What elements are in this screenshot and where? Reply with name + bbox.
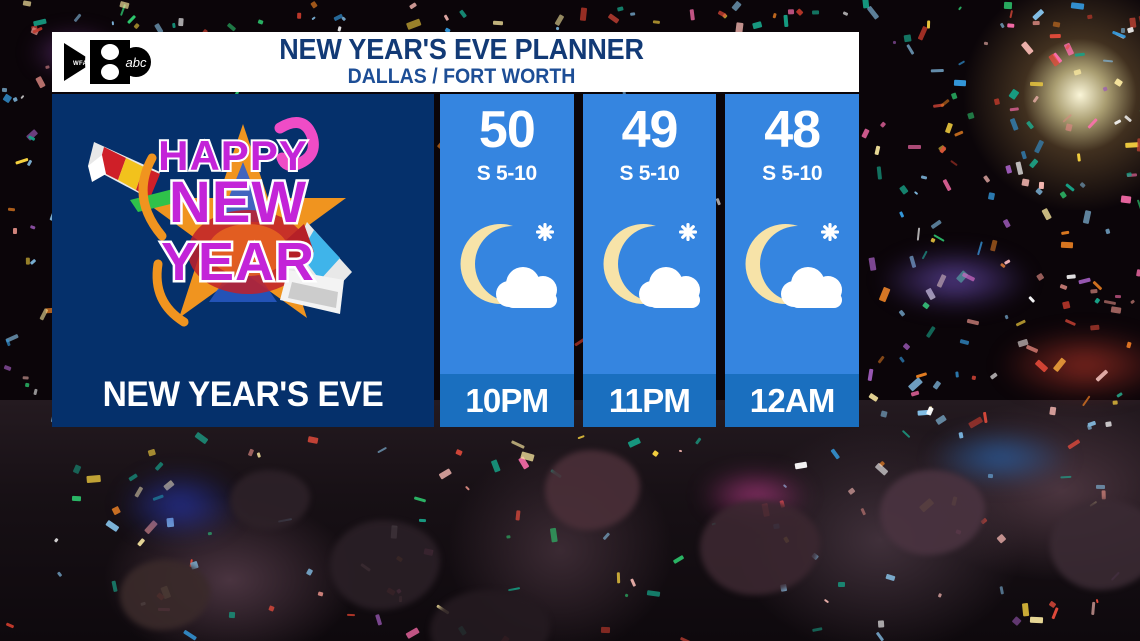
time-label: 10PM (465, 382, 548, 420)
station-logo: WFAA abc (52, 32, 164, 92)
temperature-value: 48 (764, 104, 820, 156)
promo-caption: NEW YEAR'S EVE (60, 375, 427, 415)
wfaa-abc-logo-icon: WFAA abc (60, 37, 160, 87)
time-label: 11PM (609, 382, 690, 420)
time-label: 12AM (750, 382, 835, 420)
page-title: NEW YEAR'S EVE PLANNER (185, 36, 738, 66)
page-subtitle: DALLAS / FORT WORTH (185, 66, 738, 88)
wind-value: S 5-10 (619, 162, 679, 186)
moon-cloud-star-icon (732, 208, 852, 318)
header-title-block: NEW YEAR'S EVE PLANNER DALLAS / FORT WOR… (164, 36, 859, 89)
artwork-line-new: NEW (169, 170, 307, 235)
temperature-value: 50 (479, 104, 535, 156)
promo-panel: HAPPY NEW YEAR NEW YEAR'S EVE (52, 94, 434, 427)
artwork-line-year: YEAR (161, 232, 315, 292)
header-bar: WFAA abc NEW YEAR'S EVE PLANNER DALLAS /… (52, 32, 859, 92)
light-flare (930, 0, 1140, 210)
happy-new-year-artwork: HAPPY NEW YEAR (52, 102, 434, 352)
time-band: 11PM (583, 374, 717, 427)
svg-text:abc: abc (126, 55, 147, 70)
forecast-column-12am: 48 S 5-10 12AM (725, 94, 859, 427)
wind-value: S 5-10 (477, 162, 537, 186)
moon-cloud-star-icon (447, 208, 567, 318)
time-band: 10PM (440, 374, 574, 427)
wind-value: S 5-10 (762, 162, 822, 186)
temperature-value: 49 (622, 104, 678, 156)
forecast-column-11pm: 49 S 5-10 11PM (583, 94, 717, 427)
forecast-column-10pm: 50 S 5-10 10PM (440, 94, 574, 427)
forecast-row: 50 S 5-10 10PM (440, 94, 859, 427)
moon-cloud-star-icon (590, 208, 710, 318)
time-band: 12AM (725, 374, 859, 427)
